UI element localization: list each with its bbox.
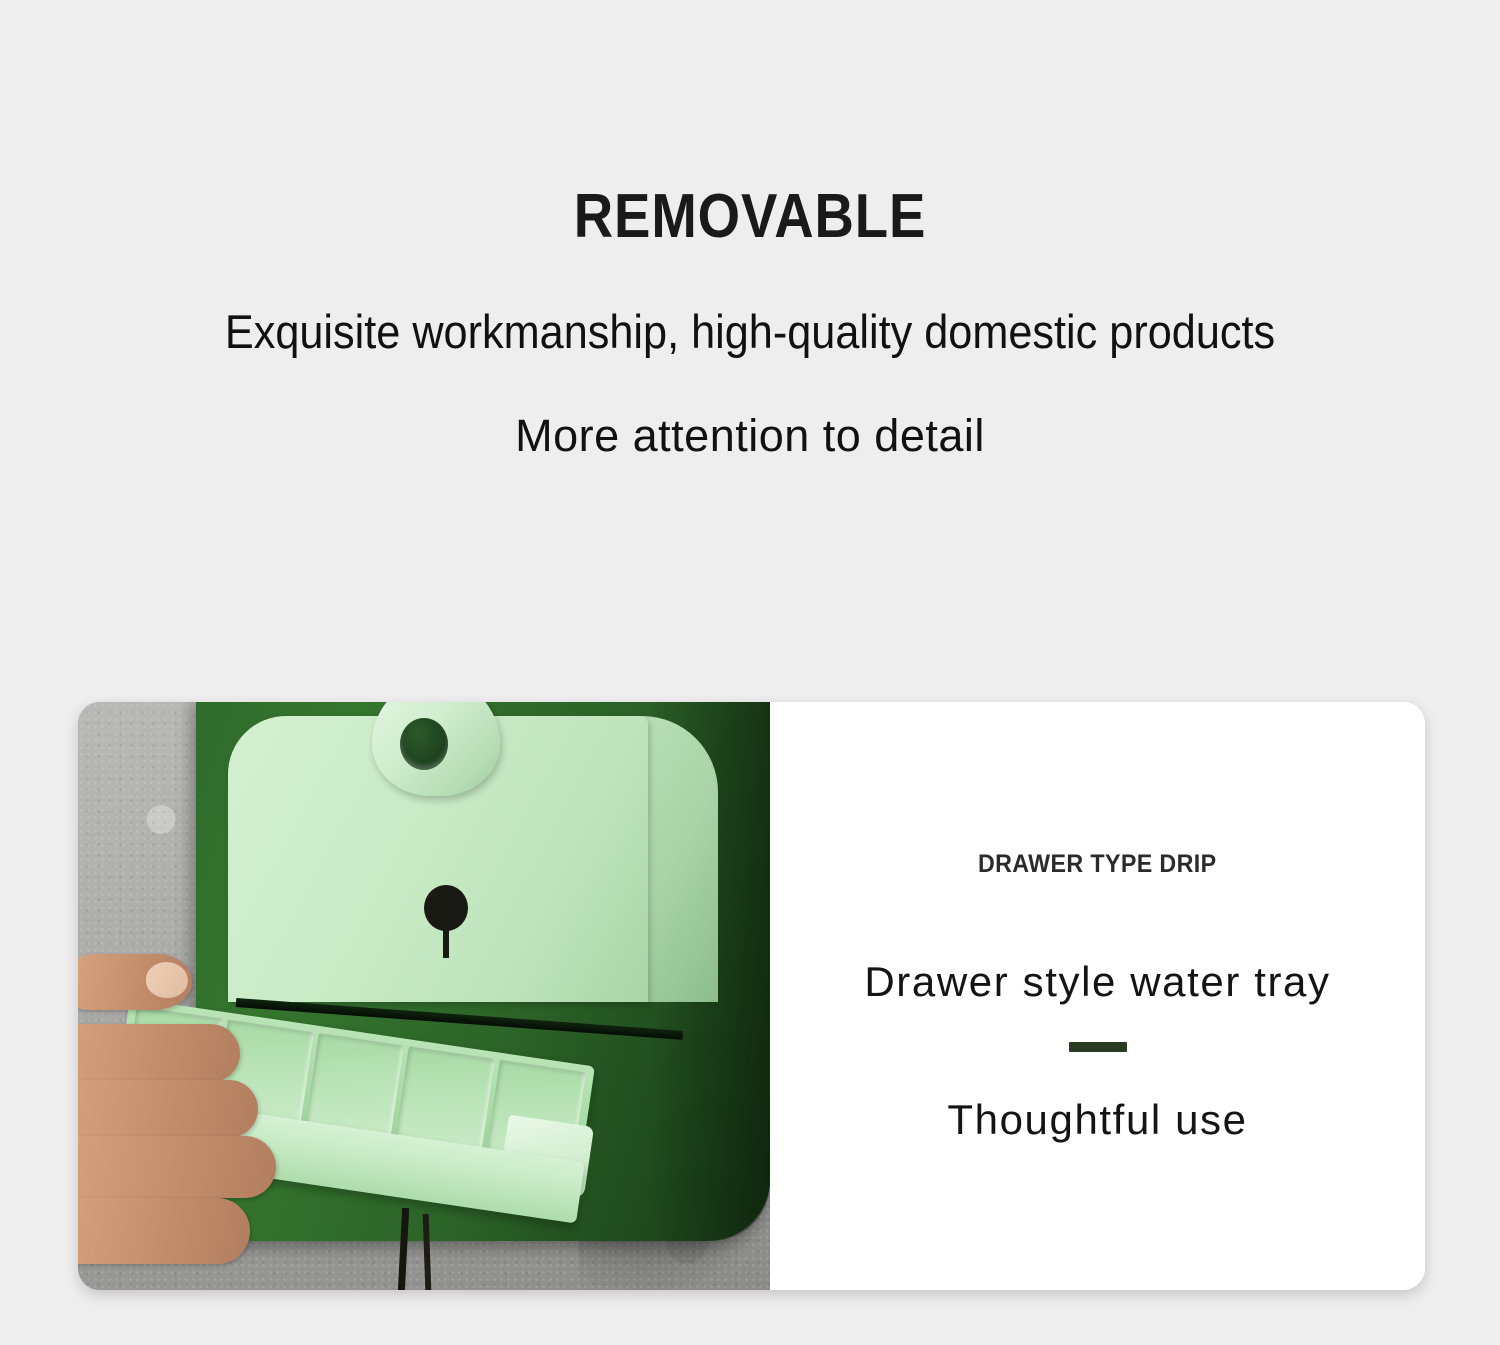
dispenser-spout <box>372 702 500 796</box>
ring-finger <box>78 1136 276 1198</box>
page-title: REMOVABLE <box>90 0 1410 248</box>
subtitle-line-1: Exquisite workmanship, high-quality dome… <box>60 248 1440 355</box>
middle-finger <box>78 1080 258 1138</box>
heading-block: REMOVABLE Exquisite workmanship, high-qu… <box>0 0 1500 458</box>
feature-eyebrow-label: DRAWER TYPE DRIP <box>978 702 1216 879</box>
tree-drip-logo-icon <box>423 882 469 960</box>
hand-holding-tray <box>78 948 314 1290</box>
subtitle-line-2: More attention to detail <box>0 355 1500 458</box>
divider-dash <box>1069 1042 1127 1052</box>
product-photo <box>78 702 770 1290</box>
spout-nozzle-opening <box>400 718 448 770</box>
feature-tagline: Thoughtful use <box>947 1052 1247 1144</box>
feature-headline: Drawer style water tray <box>864 879 1330 1006</box>
feature-card: DRAWER TYPE DRIP Drawer style water tray… <box>78 702 1425 1290</box>
index-finger <box>78 1024 240 1082</box>
info-pane: DRAWER TYPE DRIP Drawer style water tray… <box>770 702 1425 1290</box>
thumbnail <box>146 962 188 998</box>
little-finger <box>78 1198 250 1264</box>
